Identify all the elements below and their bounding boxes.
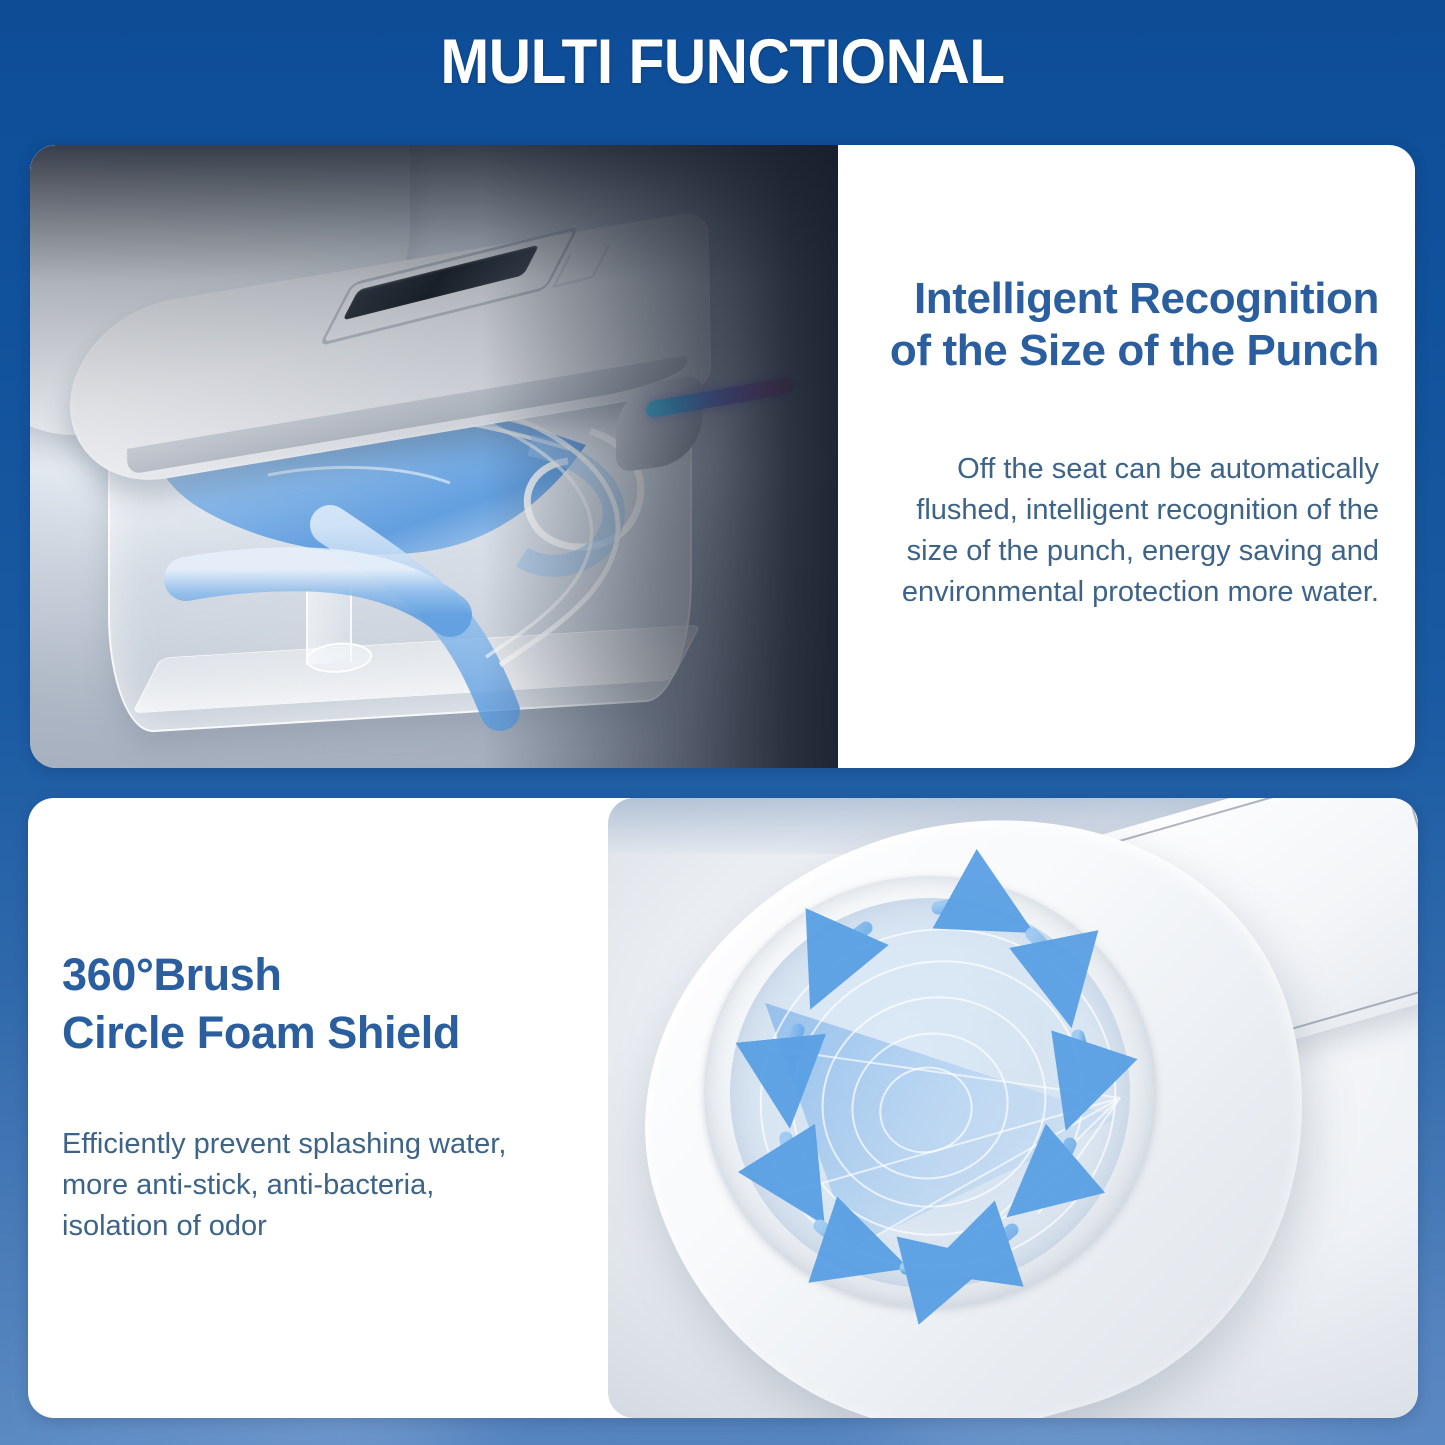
body-line-3: isolation of odor — [62, 1206, 622, 1247]
body-line-1: Efficiently prevent splashing water, — [62, 1124, 622, 1165]
heading-line-1: 360°Brush — [62, 946, 622, 1004]
feature-text-intelligent-recognition: Intelligent Recognition of the Size of t… — [838, 145, 1415, 768]
feature-image-transparent-toilet — [30, 145, 838, 768]
heading-line-2: Circle Foam Shield — [62, 1004, 622, 1062]
feature-heading-intelligent-recognition: Intelligent Recognition of the Size of t… — [866, 273, 1379, 377]
feature-body-intelligent-recognition: Off the seat can be automatically flushe… — [866, 449, 1379, 613]
feature-text-circle-foam-shield: 360°Brush Circle Foam Shield Efficiently… — [62, 946, 622, 1247]
body-line-2: more anti-stick, anti-bacteria, — [62, 1165, 622, 1206]
swirl-flush-arrows-icon — [608, 798, 1418, 1418]
heading-line-2: of the Size of the Punch — [866, 325, 1379, 377]
feature-card-intelligent-recognition: Intelligent Recognition of the Size of t… — [30, 145, 1415, 768]
feature-card-circle-foam-shield: 360°Brush Circle Foam Shield Efficiently… — [28, 798, 1418, 1418]
feature-image-bowl-swirl — [608, 798, 1418, 1418]
feature-heading-circle-foam-shield: 360°Brush Circle Foam Shield — [62, 946, 622, 1062]
page-title: MULTI FUNCTIONAL — [51, 26, 1395, 98]
marketing-banner: MULTI FUNCTIONAL — [0, 0, 1445, 1445]
feature-body-circle-foam-shield: Efficiently prevent splashing water, mor… — [62, 1124, 622, 1247]
heading-line-1: Intelligent Recognition — [866, 273, 1379, 325]
